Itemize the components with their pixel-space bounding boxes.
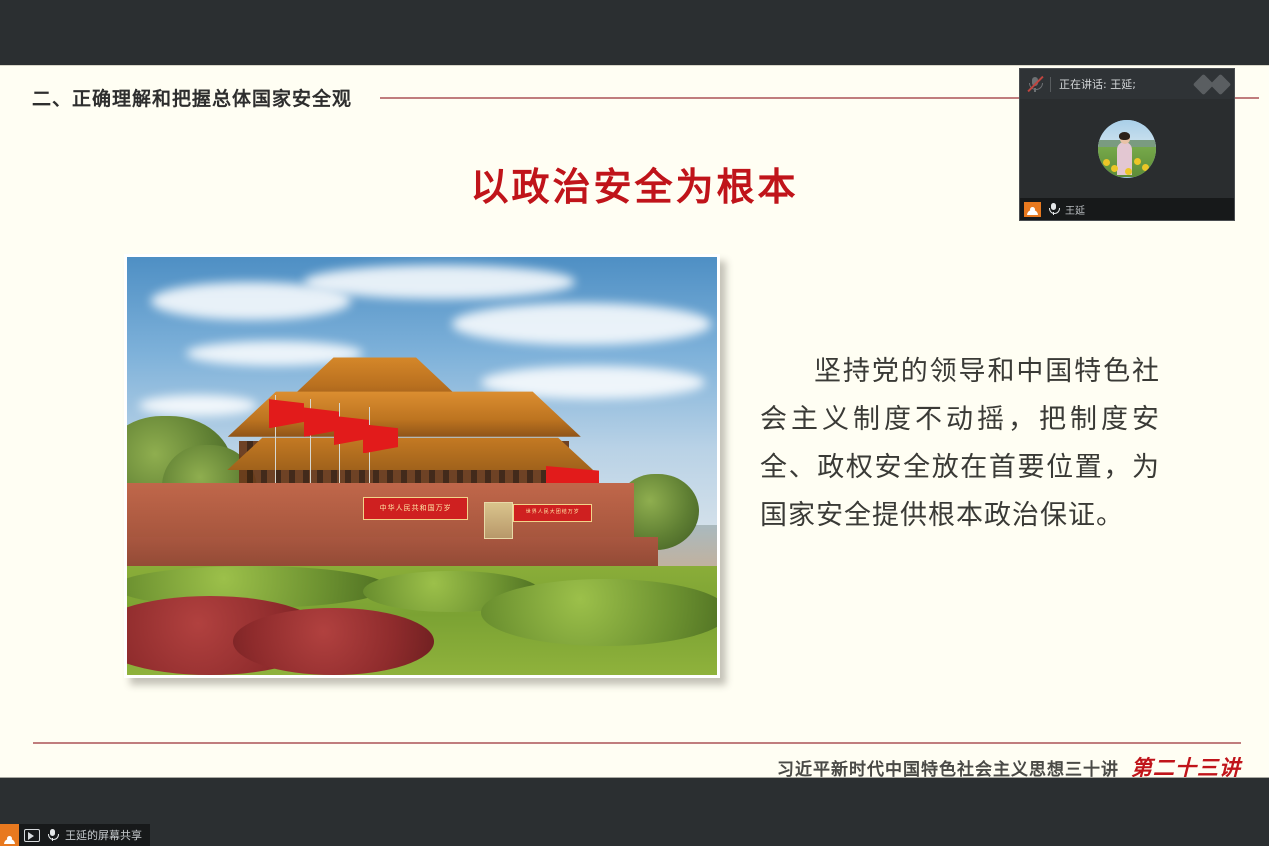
participant-name: 王延 [1065,202,1085,217]
share-arrow [28,832,34,840]
slide-body-text: 坚持党的领导和中国特色社会主义制度不动摇，把制度安全、政权安全放在首要位置，为国… [760,348,1160,540]
avatar-sunflower [1134,158,1141,165]
slide-heading-text: 二、正确理解和把握总体国家安全观 [32,84,352,111]
microphone-muted-icon[interactable] [1026,75,1044,93]
avatar-sunflower [1103,159,1110,166]
tiananmen-gate-photo[interactable]: 中华人民共和国万岁 世界人民大团结万岁 [124,254,720,678]
taskbar-share-chip[interactable]: 王延的屏幕共享 [0,824,150,846]
mic-arc [48,834,59,840]
video-panel-header[interactable]: 正在讲话: 王延; [1020,69,1234,99]
chevron-collapse-icon[interactable] [1196,77,1228,92]
avatar-sunflower [1125,168,1132,175]
avatar-sunflower [1142,164,1149,171]
person-icon[interactable] [0,824,19,846]
video-name-bar: 王延 [1020,198,1234,220]
microphone-icon[interactable] [1047,202,1059,216]
mic-arc [1049,208,1060,214]
avatar [1098,120,1156,178]
photo-content: 中华人民共和国万岁 世界人民大团结万岁 [127,257,717,675]
video-stage[interactable] [1020,99,1234,198]
footer-lecture-number: 第二十三讲 [1131,752,1241,778]
video-thumbnail-panel[interactable]: 正在讲话: 王延; [1019,68,1235,221]
person-head [7,836,12,841]
chevron-shape [1210,73,1231,94]
mic-stem [52,838,54,841]
photo-cloud [139,395,257,416]
photo-red-hedge [233,608,434,675]
screen-share-icon[interactable] [24,829,40,842]
microphone-icon[interactable] [46,828,58,842]
mic-stem [1034,88,1036,92]
footer-divider-rule [33,742,1241,744]
photo-cloud [452,303,712,345]
avatar-person-hair [1119,132,1131,140]
header-divider [1050,77,1051,92]
active-speaker-label: 正在讲话: 王延; [1059,76,1196,92]
slide-footer: 习近平新时代中国特色社会主义思想三十讲 第二十三讲 [777,752,1241,778]
footer-series-title: 习近平新时代中国特色社会主义思想三十讲 [777,755,1119,778]
photo-portrait [484,502,513,540]
mic-stem [1053,212,1055,215]
avatar-sunflower [1111,165,1118,172]
photo-banner-left: 中华人民共和国万岁 [363,497,468,520]
photo-hedge [481,579,717,646]
screen-share-viewer: 二、正确理解和把握总体国家安全观 以政治安全为根本 [0,0,1269,846]
photo-cloud [304,265,575,298]
taskbar-share-label: 王延的屏幕共享 [65,827,142,843]
person-icon [1024,202,1041,217]
photo-banner-right: 世界人民大团结万岁 [513,504,592,523]
person-head [1030,207,1035,212]
